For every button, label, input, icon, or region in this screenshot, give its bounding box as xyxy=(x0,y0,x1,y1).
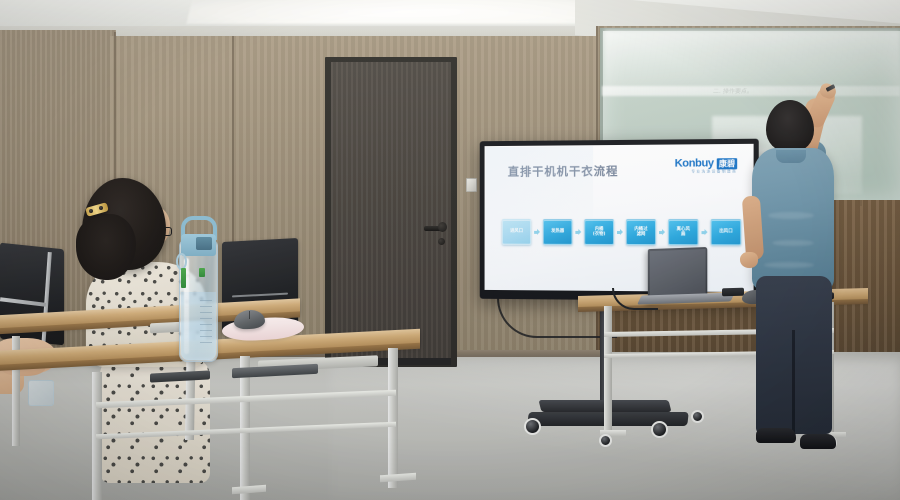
shirt-fold xyxy=(768,212,814,219)
brand-name: Konbuy xyxy=(675,157,714,169)
ceiling-light-panel xyxy=(186,0,623,24)
flow-arrow-icon xyxy=(659,228,666,236)
presenter-remote[interactable] xyxy=(722,288,744,297)
flow-arrow-icon xyxy=(701,228,708,236)
presenter-collar xyxy=(776,150,806,163)
presenter-shirt xyxy=(752,148,834,290)
presenter-shoe xyxy=(756,428,796,443)
caster-wheel xyxy=(599,434,612,447)
shirt-fold xyxy=(772,240,814,246)
desk-leg xyxy=(604,306,612,434)
bottle-label xyxy=(181,268,186,288)
bottle-label xyxy=(199,268,205,277)
caster-wheel xyxy=(651,421,668,438)
flow-step-1: 进风口 xyxy=(502,219,531,245)
shirt-fold xyxy=(764,262,814,268)
table-leg xyxy=(388,348,398,488)
flow-arrow-icon xyxy=(617,228,624,236)
flow-step-label: 发热器 xyxy=(551,229,564,234)
brand-name-cn: 康碧 xyxy=(717,158,737,169)
flow-arrow-icon xyxy=(575,228,582,236)
whiteboard-glare xyxy=(604,30,900,92)
brand-tagline: 专业洗涤设备制造商 xyxy=(691,169,737,174)
door-lock-icon[interactable] xyxy=(438,238,445,245)
slide-canvas: 直排干机机干衣流程 Konbuy 康碧 专业洗涤设备制造商 进风口发热器内桶(衣… xyxy=(485,144,754,292)
slide-title: 直排干机机干衣流程 xyxy=(508,163,619,180)
presenter-head xyxy=(766,100,814,152)
whiteboard-glare-strip xyxy=(602,86,900,96)
wall-display[interactable]: 直排干机机干衣流程 Konbuy 康碧 专业洗涤设备制造商 进风口发热器内桶(衣… xyxy=(480,139,759,302)
flow-step-label: 出风口 xyxy=(719,230,732,235)
flow-step-label: 内桶(衣物) xyxy=(593,227,606,237)
mouse-button-split xyxy=(249,311,250,319)
bottle-measure-marks xyxy=(200,300,212,344)
trouser-seam xyxy=(792,330,795,434)
room-door[interactable] xyxy=(331,62,451,365)
light-switch[interactable] xyxy=(466,178,477,192)
flow-step-5: 离心风扇 xyxy=(668,219,698,245)
caster-wheel xyxy=(524,418,541,435)
attendee-hair-lower xyxy=(76,214,136,280)
flow-step-3: 内桶(衣物) xyxy=(584,219,614,245)
flow-step-4: 内桶过滤网 xyxy=(626,219,656,245)
glass-cup[interactable] xyxy=(28,380,54,406)
bottle-cap-button[interactable] xyxy=(196,237,212,250)
flow-step-2: 发热器 xyxy=(543,219,572,245)
flow-arrow-icon xyxy=(534,228,541,236)
process-flow-diagram: 进风口发热器内桶(衣物)内桶过滤网离心风扇出风口 xyxy=(502,219,741,245)
flow-step-6: 出风口 xyxy=(711,219,742,245)
brand-logo: Konbuy 康碧 xyxy=(675,157,738,170)
flow-step-label: 内桶过滤网 xyxy=(634,227,647,237)
flow-step-label: 离心风扇 xyxy=(677,227,690,238)
presenter-shoe xyxy=(800,434,836,449)
presenter-left-hand xyxy=(740,252,758,268)
caster-wheel xyxy=(691,410,704,423)
hair-clip-gem xyxy=(99,206,103,210)
hair-clip-gem xyxy=(89,209,93,213)
flow-step-label: 进风口 xyxy=(510,229,523,234)
laptop-screen-surface xyxy=(650,249,706,300)
door-knob-plate xyxy=(438,222,447,232)
meeting-room-photo: 一、 记录 二、 生产流程说明 三、 人员分配 四、 操作要点。 二. 操作要点… xyxy=(0,0,900,500)
